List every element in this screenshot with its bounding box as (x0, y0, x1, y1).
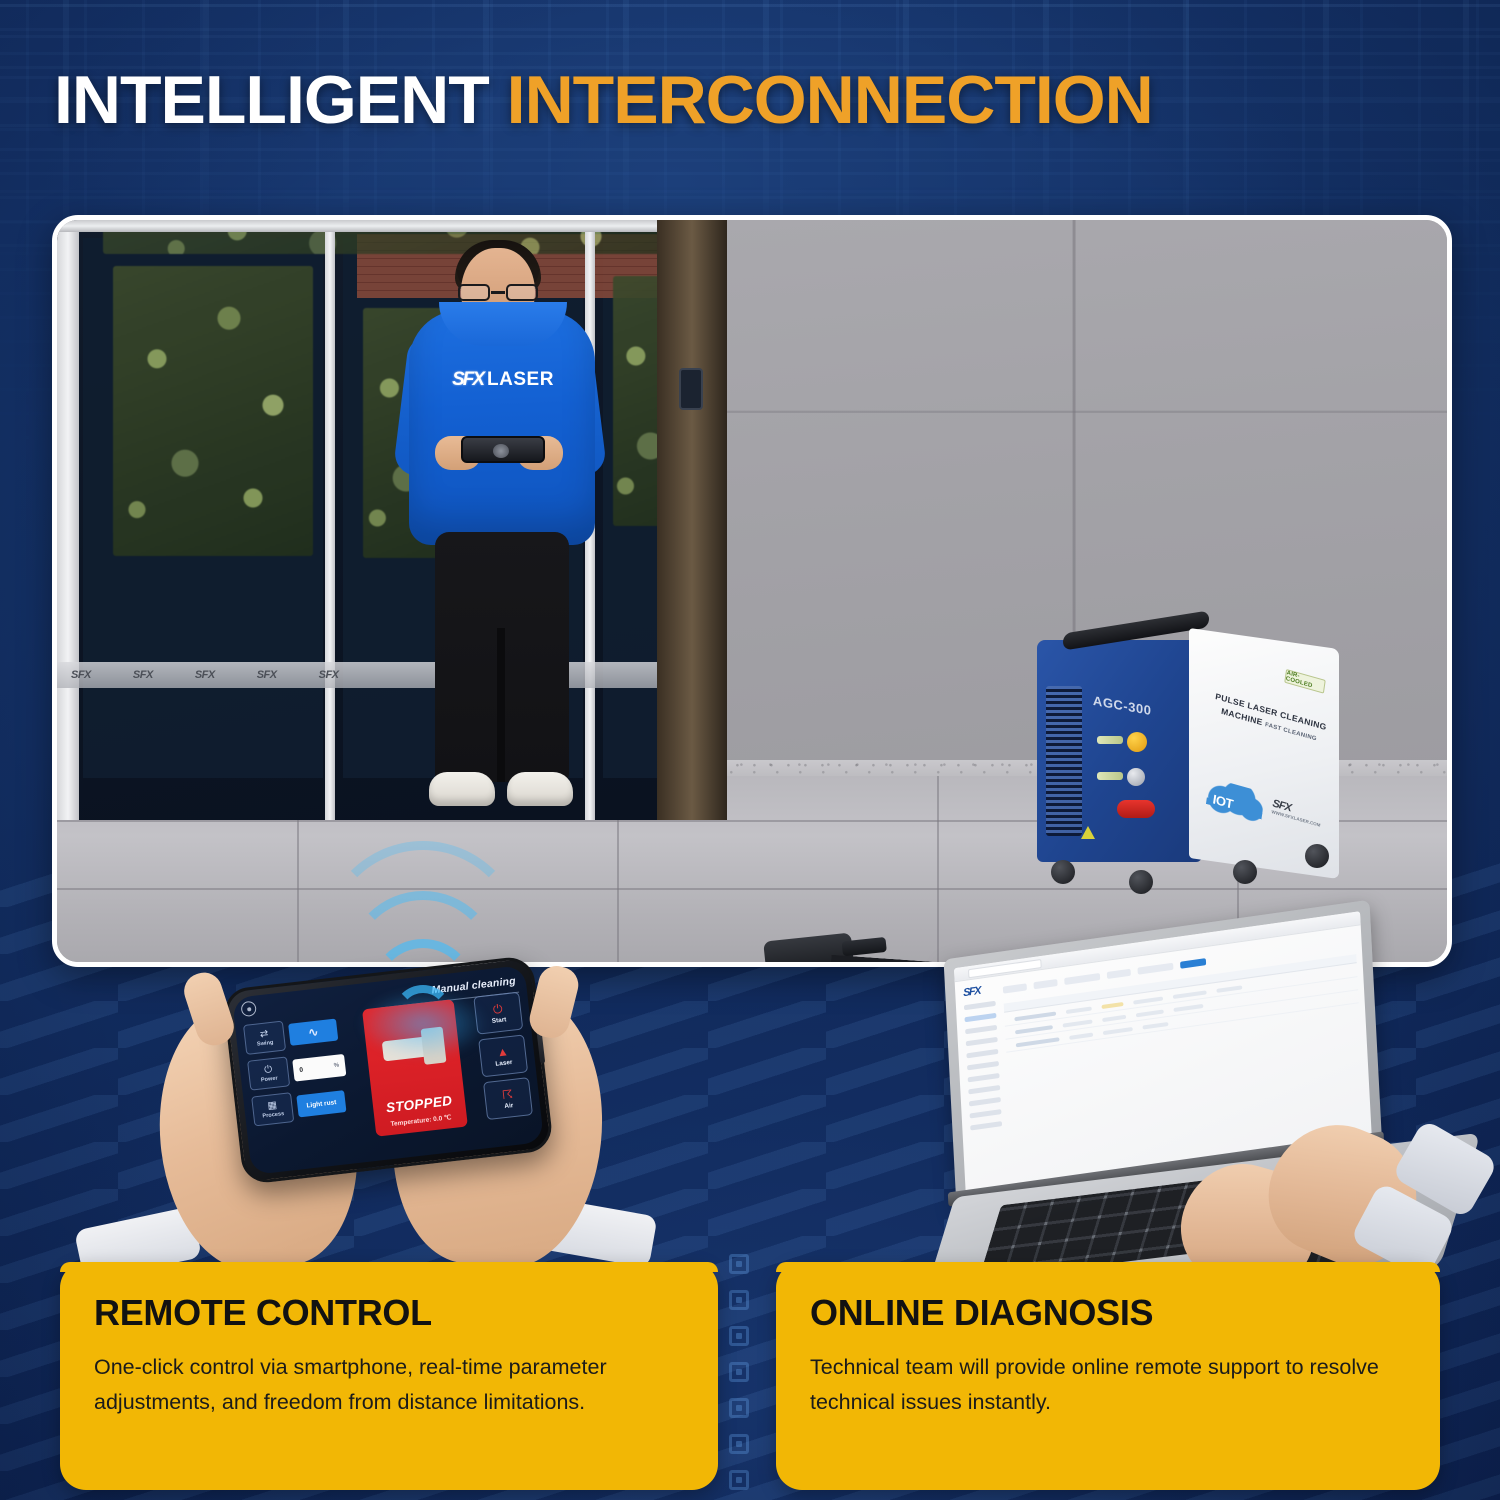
red-lever-switch[interactable] (1117, 800, 1155, 818)
person-pants (435, 532, 569, 782)
sidebar-item[interactable] (968, 1085, 1000, 1094)
power-icon[interactable]: ⏻ Power (247, 1056, 290, 1090)
page-title: INTELLIGENT INTERCONNECTION (54, 66, 1153, 134)
glass-sfx-logo: SFX (195, 669, 215, 681)
filter-field[interactable] (1003, 983, 1027, 993)
sidebar-item[interactable] (968, 1073, 1000, 1082)
search-button[interactable] (1180, 958, 1206, 969)
emergency-stop-button[interactable] (1127, 732, 1147, 752)
sidebar-item[interactable] (966, 1049, 998, 1058)
sidebar-item[interactable] (969, 1097, 1001, 1106)
laser-cleaning-machine: AGC-300 AIR-COOLED PULSE LASER CLEANING … (1037, 622, 1337, 892)
machine-brand-logo: SFX WWW.SFXLASER.COM (1271, 797, 1322, 827)
machine-front-title: PULSE LASER CLEANING MACHINE FAST CLEANI… (1208, 689, 1332, 748)
dashboard-brand-logo: SFX (963, 985, 980, 999)
phone-row-process: ▦ Process Light rust (251, 1084, 366, 1126)
process-label: Process (262, 1111, 284, 1119)
held-smartphone (461, 436, 545, 463)
power-label: Power (261, 1075, 278, 1083)
card-body: One-click control via smartphone, real-t… (94, 1350, 684, 1420)
laptop-photo: SFX (930, 930, 1500, 1290)
hero-photo-inner: SFX SFX SFX SFX SFX SFX LASER (57, 220, 1447, 962)
feature-card-online-diagnosis: ONLINE DIAGNOSIS Technical team will pro… (776, 1262, 1440, 1490)
person-shoe-left (429, 772, 495, 806)
sfx-logo-mark: SFX (452, 369, 483, 391)
glass-sfx-logo: SFX (319, 669, 339, 681)
machine-caster (1305, 844, 1329, 868)
sidebar-item[interactable] (970, 1109, 1002, 1118)
hero-photo: SFX SFX SFX SFX SFX SFX LASER (52, 215, 1452, 967)
hoodie-chest-logo: SFX LASER (433, 368, 573, 392)
page-title-word-two: INTERCONNECTION (507, 62, 1153, 138)
operator-person: SFX LASER (395, 240, 605, 830)
air-button[interactable]: ☈ Air (483, 1077, 533, 1120)
power-value: 0 (299, 1066, 303, 1073)
gear-icon[interactable] (240, 1001, 257, 1018)
card-title: REMOTE CONTROL (94, 1292, 684, 1334)
sfx-logo-word: LASER (487, 369, 554, 391)
machine-caster (1129, 870, 1153, 894)
process-preset-chip[interactable]: Light rust (296, 1090, 346, 1117)
glass-facade: SFX SFX SFX SFX SFX (57, 220, 727, 820)
filter-field[interactable] (1107, 968, 1131, 978)
air-icon: ☈ (501, 1088, 513, 1101)
sidebar-item[interactable] (964, 1001, 996, 1010)
machine-vent-grille (1046, 686, 1082, 836)
glass-sfx-logo: SFX (257, 669, 277, 681)
page-title-word-one: INTELLIGENT (54, 62, 489, 138)
sidebar-item[interactable] (970, 1121, 1002, 1130)
machine-caster (1233, 860, 1257, 884)
power-unit: % (334, 1063, 340, 1070)
process-icon[interactable]: ▦ Process (251, 1092, 294, 1126)
machine-body: AGC-300 (1037, 640, 1202, 862)
person-shoe-right (507, 772, 573, 806)
filter-field[interactable] (1137, 962, 1173, 974)
swing-icon[interactable]: ⇄ Swing (243, 1021, 286, 1055)
feature-card-remote-control: REMOTE CONTROL One-click control via sma… (60, 1262, 718, 1490)
filter-field[interactable] (1033, 978, 1057, 988)
warning-triangle-icon (1081, 826, 1095, 839)
door-keypad (679, 368, 703, 410)
iot-cloud-icon: IOT (1205, 777, 1265, 828)
swing-label: Swing (257, 1039, 274, 1047)
person-glasses (458, 284, 538, 302)
filter-field[interactable] (1064, 972, 1100, 984)
card-title: ONLINE DIAGNOSIS (810, 1292, 1406, 1334)
sidebar-item[interactable] (967, 1061, 999, 1070)
power-value-input[interactable]: 0 % (292, 1054, 346, 1082)
dashboard-sidebar[interactable] (960, 1000, 1009, 1190)
glass-sfx-logo: SFX (133, 669, 153, 681)
card-body: Technical team will provide online remot… (810, 1350, 1406, 1420)
phone-row-power: ⏻ Power 0 % (247, 1048, 362, 1090)
laser-icon: ▲ (496, 1045, 509, 1058)
air-cooled-badge: AIR-COOLED (1284, 669, 1326, 694)
glass-sfx-logo: SFX (71, 669, 91, 681)
machine-caster (1051, 860, 1075, 884)
machine-brand-url: WWW.SFXLASER.COM (1271, 809, 1321, 828)
machine-model-label: AGC-300 (1093, 693, 1152, 718)
wifi-signal-arcs (318, 900, 528, 1045)
glass-logo-strip: SFX SFX SFX SFX SFX (57, 662, 727, 688)
key-switch[interactable] (1127, 768, 1145, 786)
machine-front-panel: AIR-COOLED PULSE LASER CLEANING MACHINE … (1189, 628, 1339, 879)
sidebar-item[interactable] (965, 1025, 997, 1034)
wifi-glow (358, 989, 488, 1059)
sidebar-item[interactable] (966, 1037, 998, 1046)
air-label: Air (504, 1102, 514, 1110)
laser-label: Laser (495, 1058, 513, 1067)
sidebar-item[interactable] (965, 1013, 997, 1022)
